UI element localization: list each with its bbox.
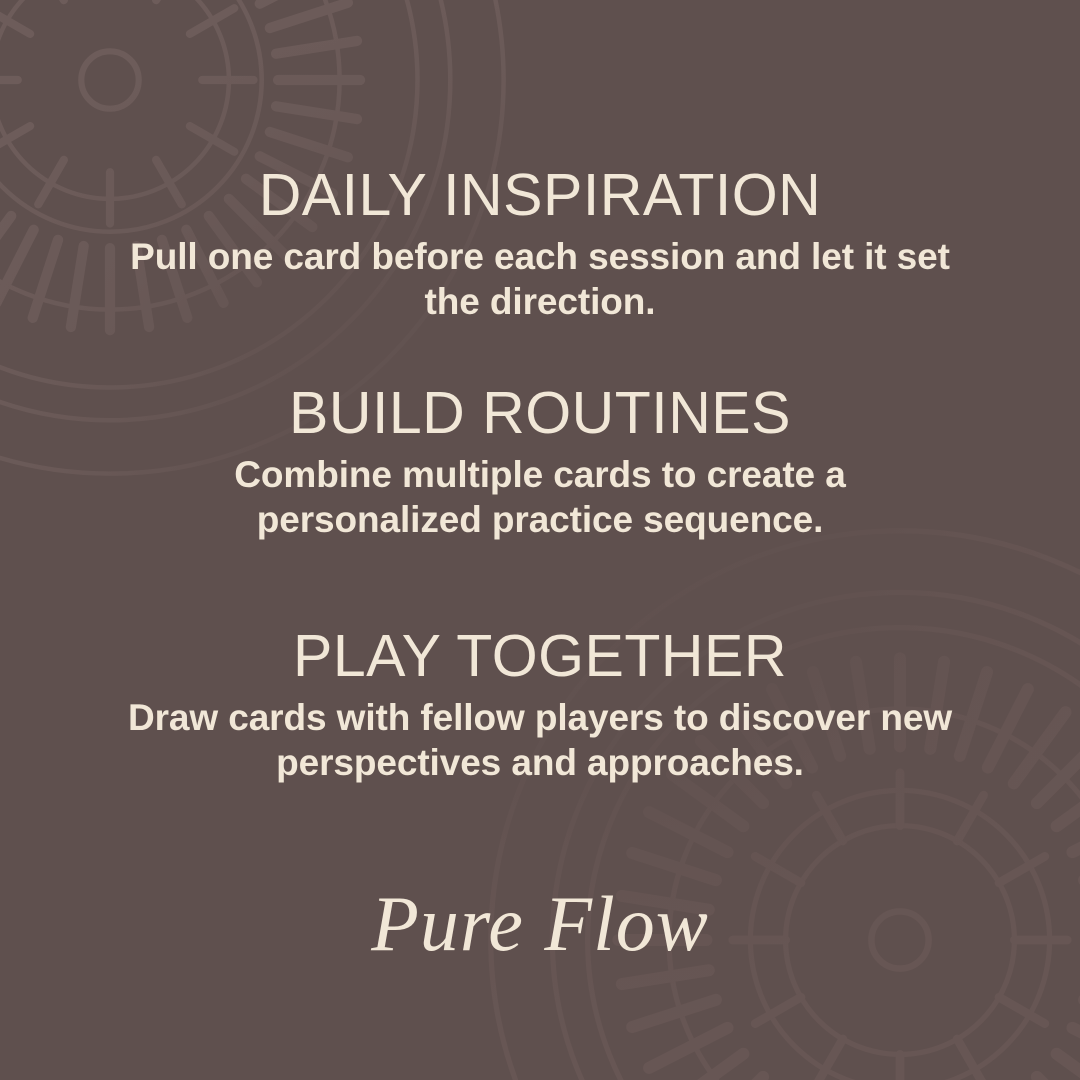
feature-block-play-together: PLAY TOGETHER Draw cards with fellow pla… [60,627,1020,785]
feature-heading-daily-inspiration: DAILY INSPIRATION [259,166,822,225]
feature-body-play-together: Draw cards with fellow players to discov… [125,695,955,785]
poster-content: DAILY INSPIRATION Pull one card before e… [0,0,1080,1080]
feature-block-daily-inspiration: DAILY INSPIRATION Pull one card before e… [60,166,1020,324]
feature-block-build-routines: BUILD ROUTINES Combine multiple cards to… [60,384,1020,542]
feature-body-daily-inspiration: Pull one card before each session and le… [125,234,955,324]
feature-body-build-routines: Combine multiple cards to create a perso… [125,452,955,542]
feature-heading-build-routines: BUILD ROUTINES [289,384,791,443]
feature-heading-play-together: PLAY TOGETHER [293,627,787,686]
brand-wordmark: Pure Flow [371,885,709,963]
poster-canvas: DAILY INSPIRATION Pull one card before e… [0,0,1080,1080]
